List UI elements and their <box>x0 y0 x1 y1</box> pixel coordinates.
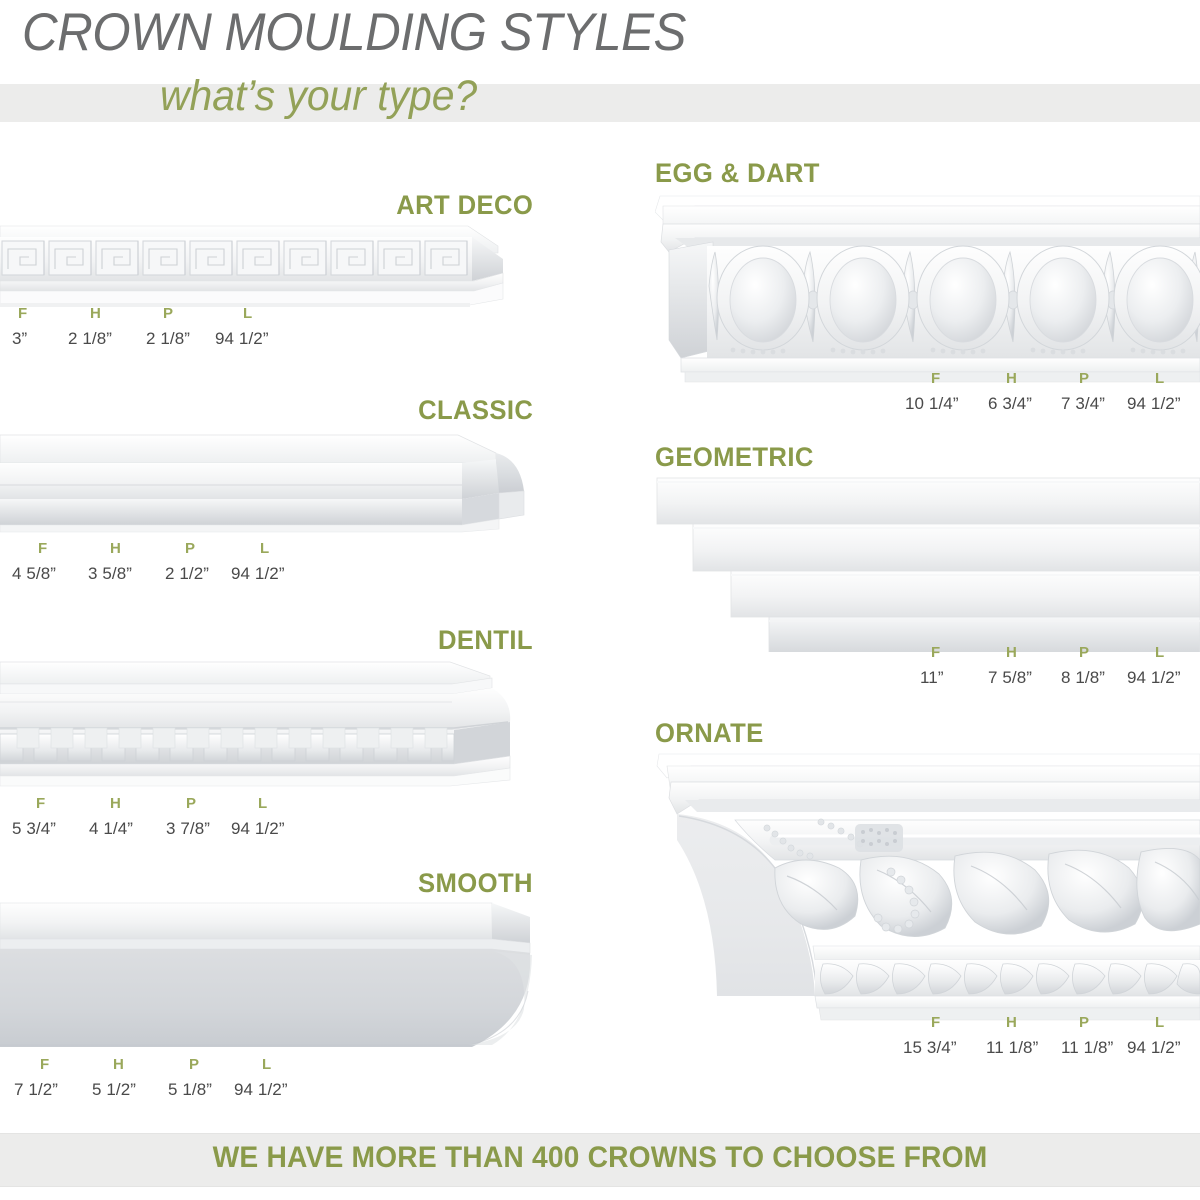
moulding-art-geometric <box>655 474 1200 652</box>
section-title-art-deco: ART DECO <box>396 190 533 221</box>
spec-value-l: 94 1/2” <box>1127 394 1181 414</box>
specs-geometric: F H P L 11” 7 5/8” 8 1/8” 94 1/2” <box>891 644 1200 692</box>
spec-values-row: 10 1/4” 6 3/4” 7 3/4” 94 1/2” <box>891 394 1200 418</box>
spec-key-h: H <box>90 305 101 322</box>
spec-key-l: L <box>243 305 252 322</box>
spec-values-row: 11” 7 5/8” 8 1/8” 94 1/2” <box>891 668 1200 692</box>
specs-dentil: F H P L 5 3/4” 4 1/4” 3 7/8” 94 1/2” <box>0 795 330 843</box>
spec-value-h: 7 5/8” <box>988 668 1032 688</box>
page-subtitle: what’s your type? <box>160 72 477 120</box>
spec-key-l: L <box>1155 370 1164 387</box>
spec-values-row: 5 3/4” 4 1/4” 3 7/8” 94 1/2” <box>0 819 330 843</box>
spec-value-h: 6 3/4” <box>988 394 1032 414</box>
spec-key-f: F <box>931 644 940 661</box>
spec-key-h: H <box>110 540 121 557</box>
moulding-art-art-deco <box>0 223 545 309</box>
spec-value-l: 94 1/2” <box>1127 668 1181 688</box>
spec-value-f: 7 1/2” <box>14 1080 58 1100</box>
spec-key-f: F <box>38 540 47 557</box>
spec-value-p: 5 1/8” <box>168 1080 212 1100</box>
spec-value-p: 3 7/8” <box>166 819 210 839</box>
spec-value-p: 8 1/8” <box>1061 668 1105 688</box>
spec-key-p: P <box>1079 1014 1089 1031</box>
spec-key-f: F <box>40 1056 49 1073</box>
spec-value-h: 4 1/4” <box>89 819 133 839</box>
specs-egg-and-dart: F H P L 10 1/4” 6 3/4” 7 3/4” 94 1/2” <box>891 370 1200 418</box>
spec-key-l: L <box>1155 644 1164 661</box>
spec-value-l: 94 1/2” <box>234 1080 288 1100</box>
spec-value-p: 7 3/4” <box>1061 394 1105 414</box>
spec-key-l: L <box>260 540 269 557</box>
spec-key-f: F <box>931 1014 940 1031</box>
spec-key-h: H <box>1006 370 1017 387</box>
spec-keys-row: F H P L <box>891 370 1200 394</box>
spec-key-h: H <box>1006 644 1017 661</box>
page-title: CROWN MOULDING STYLES <box>22 4 686 62</box>
spec-value-f: 4 5/8” <box>12 564 56 584</box>
infographic-page: CROWN MOULDING STYLES what’s your type? <box>0 0 1200 1200</box>
spec-keys-row: F H P L <box>0 795 330 819</box>
spec-value-l: 94 1/2” <box>231 819 285 839</box>
section-title-classic: CLASSIC <box>418 395 533 426</box>
spec-value-l: 94 1/2” <box>1127 1038 1181 1058</box>
specs-art-deco: F H P L 3” 2 1/8” 2 1/8” 94 1/2” <box>0 305 330 353</box>
section-title-ornate: ORNATE <box>655 718 764 749</box>
moulding-art-smooth <box>0 899 545 1049</box>
spec-key-f: F <box>36 795 45 812</box>
spec-value-h: 5 1/2” <box>92 1080 136 1100</box>
moulding-art-ornate <box>655 748 1200 1028</box>
spec-value-f: 15 3/4” <box>903 1038 957 1058</box>
spec-values-row: 4 5/8” 3 5/8” 2 1/2” 94 1/2” <box>0 564 330 588</box>
spec-keys-row: F H P L <box>0 305 330 329</box>
section-title-smooth: SMOOTH <box>418 868 533 899</box>
spec-key-l: L <box>258 795 267 812</box>
spec-key-p: P <box>1079 644 1089 661</box>
section-title-egg-and-dart: EGG & DART <box>655 158 820 189</box>
spec-key-l: L <box>1155 1014 1164 1031</box>
spec-value-p: 2 1/8” <box>146 329 190 349</box>
spec-value-l: 94 1/2” <box>215 329 269 349</box>
spec-values-row: 7 1/2” 5 1/2” 5 1/8” 94 1/2” <box>0 1080 330 1104</box>
spec-keys-row: F H P L <box>891 644 1200 668</box>
spec-values-row: 3” 2 1/8” 2 1/8” 94 1/2” <box>0 329 330 353</box>
moulding-art-egg-and-dart <box>655 190 1200 385</box>
spec-value-f: 5 3/4” <box>12 819 56 839</box>
footer-text: WE HAVE MORE THAN 400 CROWNS TO CHOOSE F… <box>36 1141 1164 1175</box>
specs-smooth: F H P L 7 1/2” 5 1/2” 5 1/8” 94 1/2” <box>0 1056 330 1104</box>
spec-key-h: H <box>1006 1014 1017 1031</box>
section-title-dentil: DENTIL <box>438 625 533 656</box>
spec-value-l: 94 1/2” <box>231 564 285 584</box>
spec-value-h: 11 1/8” <box>986 1038 1038 1058</box>
spec-key-f: F <box>931 370 940 387</box>
spec-key-p: P <box>189 1056 199 1073</box>
specs-classic: F H P L 4 5/8” 3 5/8” 2 1/2” 94 1/2” <box>0 540 330 588</box>
spec-key-l: L <box>262 1056 271 1073</box>
spec-value-f: 10 1/4” <box>905 394 959 414</box>
spec-value-f: 11” <box>920 668 944 688</box>
spec-value-h: 2 1/8” <box>68 329 112 349</box>
spec-key-h: H <box>113 1056 124 1073</box>
spec-value-h: 3 5/8” <box>88 564 132 584</box>
spec-keys-row: F H P L <box>0 540 330 564</box>
spec-key-p: P <box>1079 370 1089 387</box>
section-title-geometric: GEOMETRIC <box>655 442 814 473</box>
spec-key-f: F <box>18 305 27 322</box>
footer-divider-bottom <box>0 1186 1200 1187</box>
spec-keys-row: F H P L <box>891 1014 1200 1038</box>
spec-key-p: P <box>185 540 195 557</box>
spec-keys-row: F H P L <box>0 1056 330 1080</box>
spec-key-h: H <box>110 795 121 812</box>
spec-values-row: 15 3/4” 11 1/8” 11 1/8” 94 1/2” <box>891 1038 1200 1062</box>
specs-ornate: F H P L 15 3/4” 11 1/8” 11 1/8” 94 1/2” <box>891 1014 1200 1062</box>
spec-key-p: P <box>163 305 173 322</box>
moulding-art-dentil <box>0 658 545 790</box>
spec-key-p: P <box>186 795 196 812</box>
moulding-art-classic <box>0 429 545 534</box>
spec-value-p: 11 1/8” <box>1061 1038 1113 1058</box>
spec-value-p: 2 1/2” <box>165 564 209 584</box>
spec-value-f: 3” <box>12 329 27 349</box>
